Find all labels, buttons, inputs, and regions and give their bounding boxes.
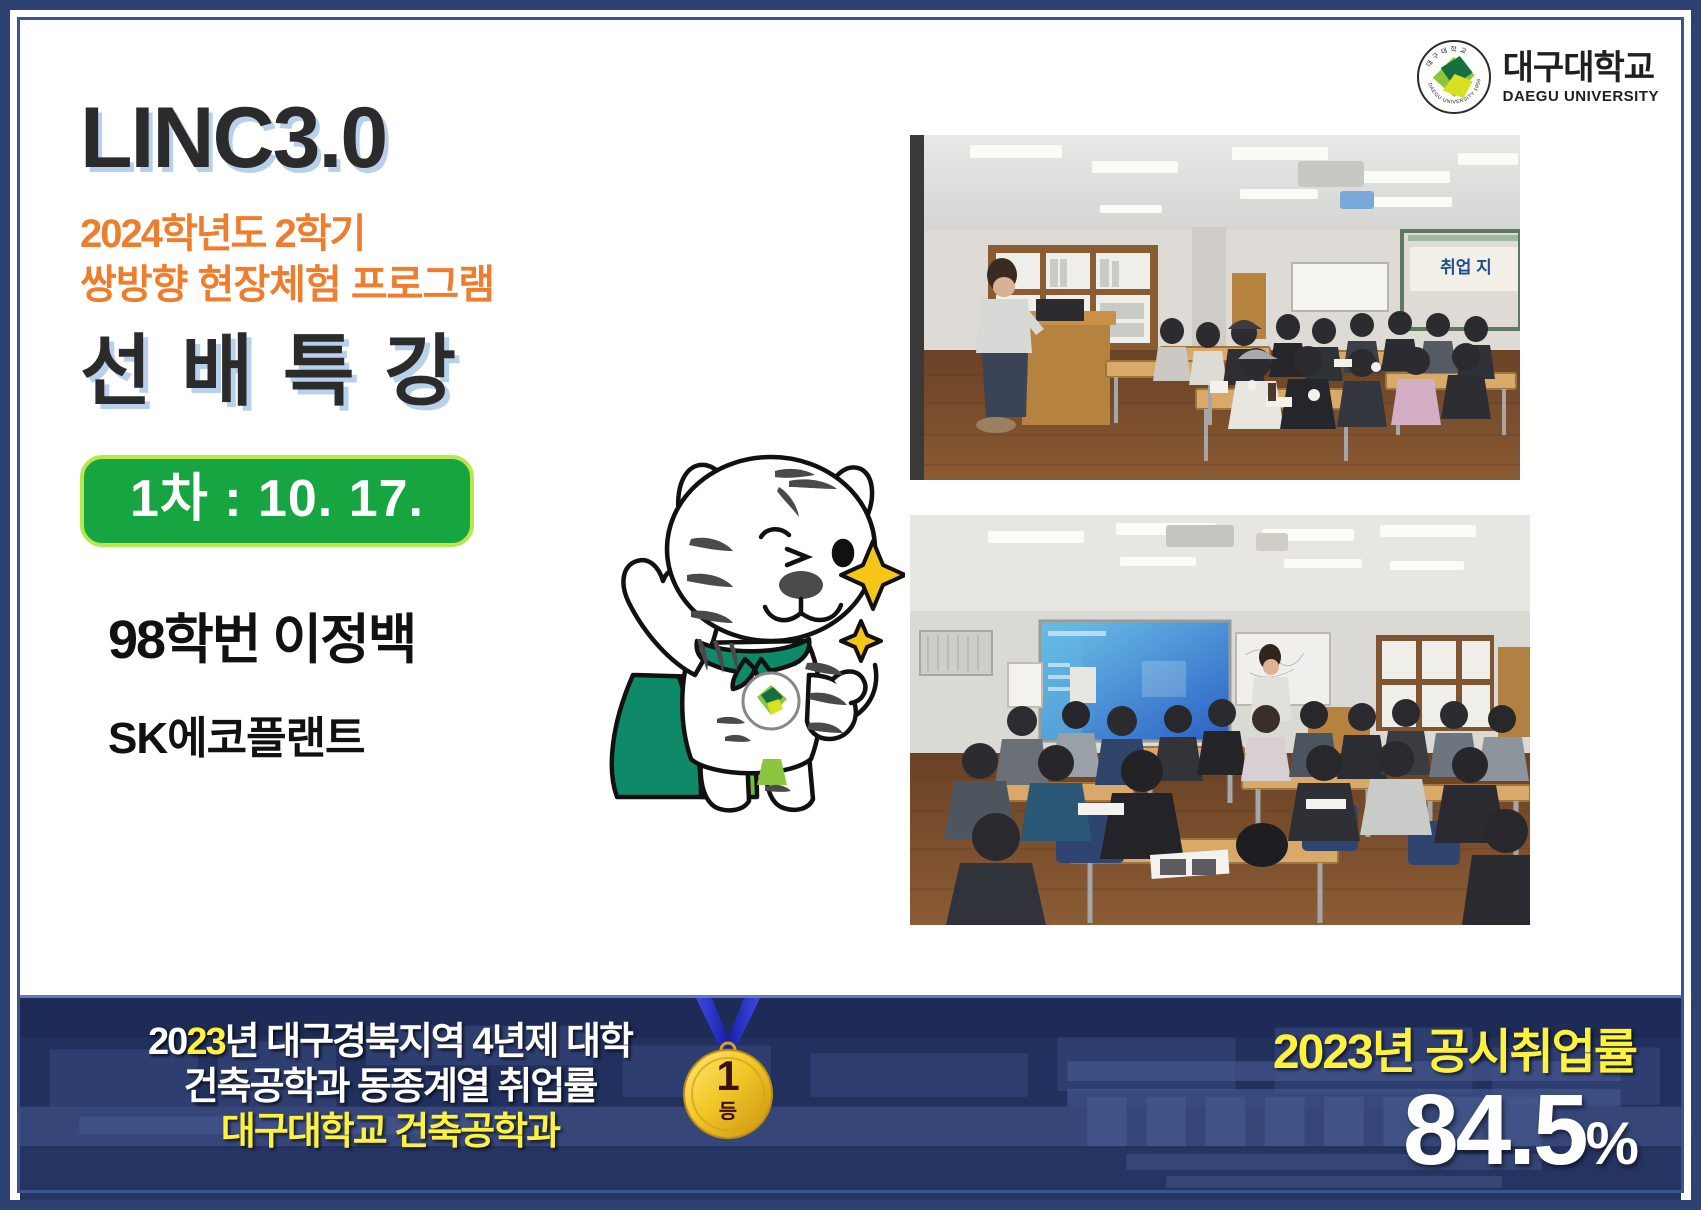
tiger-mascot	[575, 425, 905, 830]
employment-rank-text: 2023년 대구경북지역 4년제 대학 건축공학과 동종계열 취업률 대구대학교…	[80, 1020, 700, 1154]
medal-rank-suffix: 등	[719, 1101, 737, 1123]
poster-root: 대구대학교 DAEGU UNIVERSITY 1956 대구대학교 DAEGU …	[0, 0, 1701, 1210]
employment-rate-value-row: 84.5%	[1273, 1078, 1636, 1183]
rank-line-3: 대구대학교 건축공학과	[80, 1110, 700, 1155]
poster-subtitle: 2024학년도 2학기 쌍방향 현장체험 프로그램	[80, 209, 640, 311]
medal-rank-number: 1	[716, 1052, 739, 1099]
subtitle-line-1: 2024학년도 2학기	[80, 209, 640, 260]
svg-text:대구대학교: 대구대학교	[1424, 44, 1469, 68]
rank-year-prefix: 20	[148, 1021, 186, 1063]
rank-year-suffix: 23	[186, 1021, 224, 1063]
speaker-name: 98학번 이정백	[80, 595, 640, 674]
rank-line-1-rest: 년 대구경북지역 4년제 대학	[225, 1021, 632, 1063]
program-title: LINC3.0	[80, 95, 640, 181]
statistics-banner: 2023년 대구경북지역 4년제 대학 건축공학과 동종계열 취업률 대구대학교…	[20, 995, 1681, 1200]
seal-ring-text-icon: 대구대학교 DAEGU UNIVERSITY 1956	[1419, 42, 1489, 112]
rank-line-1: 2023년 대구경북지역 4년제 대학	[80, 1020, 700, 1065]
classroom-photo-front: 취업 지	[910, 135, 1520, 480]
logo-korean-name: 대구대학교	[1503, 51, 1659, 85]
svg-text:DAEGU UNIVERSITY 1956: DAEGU UNIVERSITY 1956	[1426, 78, 1482, 105]
university-seal-icon: 대구대학교 DAEGU UNIVERSITY 1956	[1417, 40, 1491, 114]
first-place-medal: 1 등	[668, 995, 788, 1145]
rank-line-2: 건축공학과 동종계열 취업률	[80, 1065, 700, 1110]
classroom-photo-rear	[910, 515, 1530, 925]
university-logo: 대구대학교 DAEGU UNIVERSITY 1956 대구대학교 DAEGU …	[1417, 40, 1659, 114]
svg-text:취업 지: 취업 지	[1440, 257, 1492, 277]
event-title: 선 배 특 강	[80, 331, 640, 413]
employment-rate-value: 84.5	[1403, 1074, 1586, 1186]
speaker-company: SK에코플랜트	[80, 702, 640, 766]
poster-text-column: LINC3.0 2024학년도 2학기 쌍방향 현장체험 프로그램 선 배 특 …	[80, 95, 640, 766]
subtitle-line-2: 쌍방향 현장체험 프로그램	[80, 260, 640, 311]
logo-english-name: DAEGU UNIVERSITY	[1503, 89, 1659, 104]
date-badge: 1차 : 10. 17.	[80, 455, 474, 547]
employment-rate-block: 2023년 공시취업률 84.5%	[1273, 1012, 1636, 1183]
employment-rate-unit: %	[1586, 1110, 1636, 1177]
employment-rate-title: 2023년 공시취업률	[1273, 1012, 1636, 1082]
